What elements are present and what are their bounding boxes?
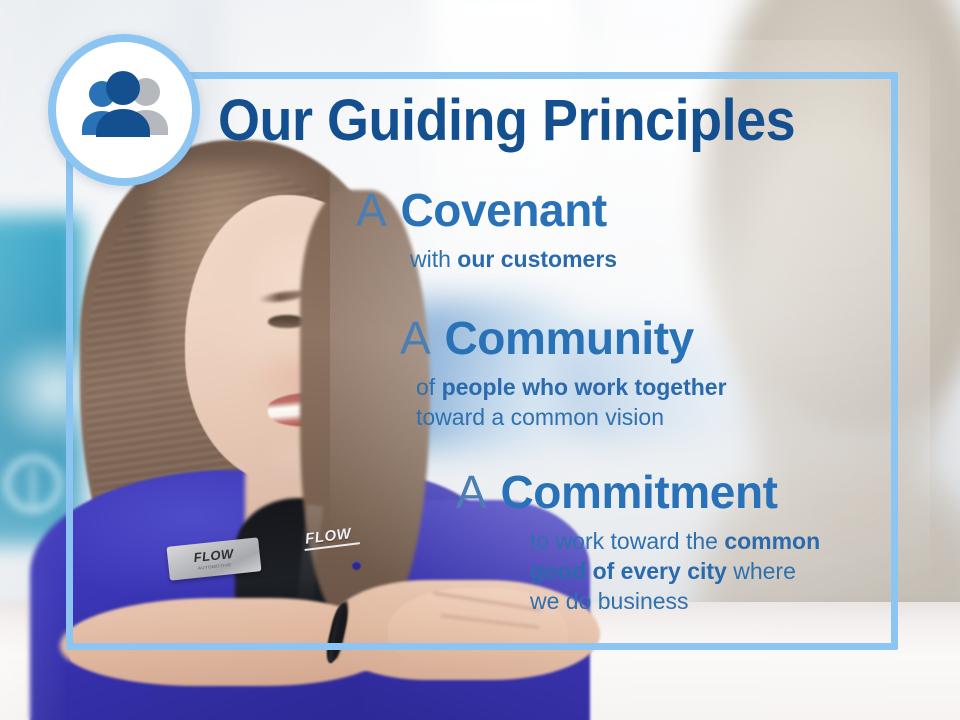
principle-title: A Commitment [456, 468, 894, 517]
graphic-stage: FLOW AUTOMOTIVE FLOW Our Guiding [0, 0, 960, 720]
principle-item-community: A Community of people who work togethert… [70, 314, 894, 433]
principle-keyword: Community [444, 312, 693, 364]
subtext-plain: of [416, 374, 442, 400]
subtext-emphasis: good of every city [530, 558, 727, 584]
subtext-plain: with [410, 246, 457, 272]
principle-subtext-line: to work toward the common [530, 527, 894, 557]
principle-article: A [356, 184, 388, 236]
principle-subtext: with our customers [356, 245, 894, 275]
principle-subtext-line: of people who work together [416, 373, 894, 403]
subtext-emphasis: people who work together [442, 374, 727, 400]
principle-subtext: to work toward the commongood of every c… [456, 527, 894, 617]
subtext-plain: where [727, 558, 796, 584]
principle-article: A [400, 312, 432, 364]
principle-subtext-line: good of every city where [530, 557, 894, 587]
subtext-emphasis: common [724, 528, 820, 554]
principle-subtext-line: we do business [530, 587, 894, 617]
page-title: Our Guiding Principles [218, 92, 795, 150]
principle-title: A Covenant [356, 186, 894, 235]
subtext-plain: toward a common vision [416, 404, 664, 430]
principle-title: A Community [400, 314, 894, 363]
principle-keyword: Commitment [500, 466, 777, 518]
principle-article: A [456, 466, 488, 518]
principle-subtext: of people who work togethertoward a comm… [400, 373, 894, 433]
principle-subtext-line: with our customers [410, 245, 894, 275]
principle-item-commitment: A Commitment to work toward the commongo… [70, 468, 894, 616]
subtext-plain: we do business [530, 588, 689, 614]
people-group-icon-badge [48, 34, 200, 186]
principle-keyword: Covenant [400, 184, 606, 236]
principle-subtext-line: toward a common vision [416, 403, 894, 433]
principle-item-covenant: A Covenant with our customers [70, 186, 894, 275]
subtext-emphasis: our customers [457, 246, 617, 272]
subtext-plain: to work toward the [530, 528, 724, 554]
people-group-icon [72, 71, 176, 149]
